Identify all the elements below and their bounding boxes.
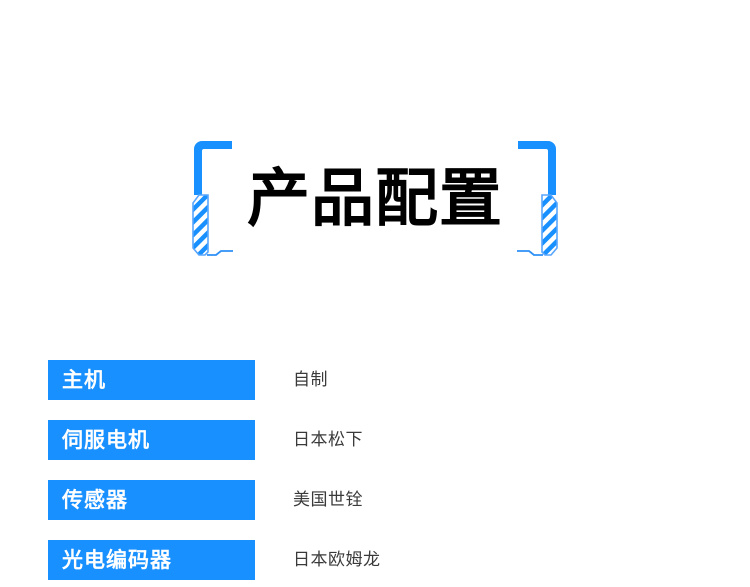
table-row: 传感器 美国世铨 <box>48 480 708 540</box>
spec-value-sensor: 美国世铨 <box>293 480 363 520</box>
product-configuration-page: 产品配置 主机 自制 伺服电机 日本松下 传感器 美国世铨 光电编码器 日本欧姆… <box>0 0 750 587</box>
product-spec-list: 主机 自制 伺服电机 日本松下 传感器 美国世铨 光电编码器 日本欧姆龙 <box>48 360 708 587</box>
spec-label-servo-motor: 伺服电机 <box>48 420 255 460</box>
spec-value-photoelectric-encoder: 日本欧姆龙 <box>293 540 381 580</box>
spec-value-servo-motor: 日本松下 <box>293 420 363 460</box>
spec-label-photoelectric-encoder: 光电编码器 <box>48 540 255 580</box>
page-title-block: 产品配置 <box>185 138 565 263</box>
page-title: 产品配置 <box>185 154 565 244</box>
table-row: 主机 自制 <box>48 360 708 420</box>
spec-label-host: 主机 <box>48 360 255 400</box>
spec-label-sensor: 传感器 <box>48 480 255 520</box>
table-row: 伺服电机 日本松下 <box>48 420 708 480</box>
spec-value-host: 自制 <box>293 360 328 400</box>
table-row: 光电编码器 日本欧姆龙 <box>48 540 708 587</box>
